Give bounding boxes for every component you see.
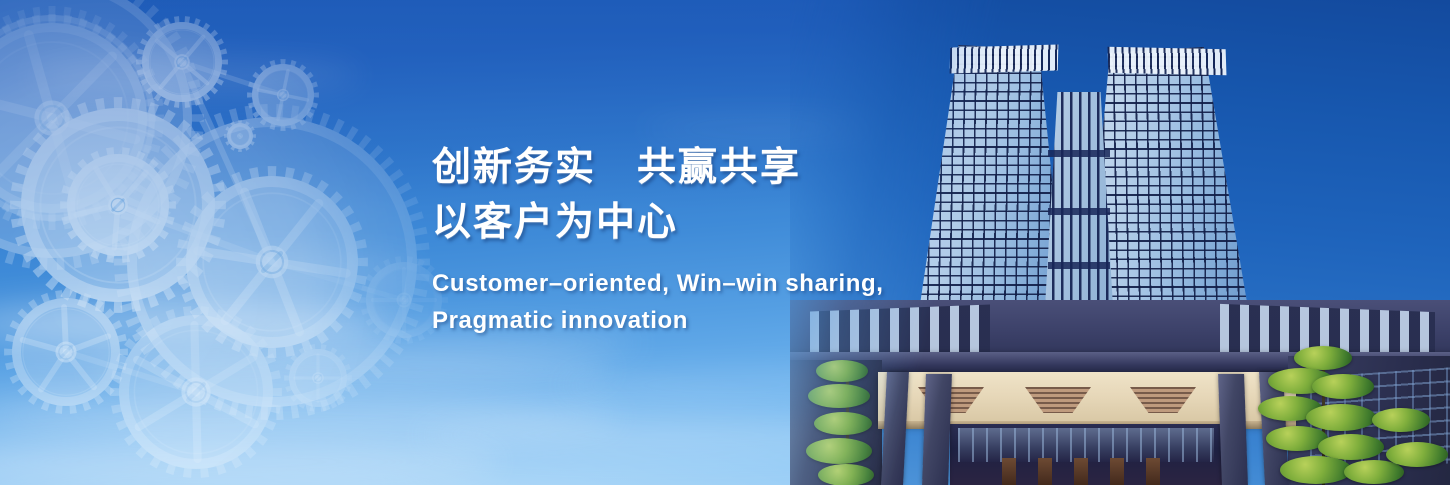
headline-cn-line1: 创新务实 共赢共享 [432,140,952,195]
core-band [1048,262,1110,269]
core-band [1048,208,1110,215]
hero-banner: 创新务实 共赢共享 以客户为中心 Customer–oriented, Win–… [0,0,1450,485]
entrance-column [1218,374,1248,485]
lobby-door [1110,458,1124,485]
tower-crown-right [1108,47,1227,75]
lobby-door [1002,458,1016,485]
subheadline-en: Customer–oriented, Win–win sharing, Prag… [432,265,952,339]
subheadline-en-line1: Customer–oriented, Win–win sharing, [432,265,952,302]
banner-copy: 创新务实 共赢共享 以客户为中心 Customer–oriented, Win–… [432,140,952,339]
headline-cn-line2: 以客户为中心 [432,195,952,250]
entrance-column [922,374,952,485]
subheadline-en-line2: Pragmatic innovation [432,302,952,339]
lobby-door [1074,458,1088,485]
lobby-door [1146,458,1160,485]
cloud-wisp [120,258,420,280]
lobby-door [1038,458,1052,485]
lobby-glazing [958,428,1214,462]
cloud-wisp [30,60,360,90]
cloud-wisp [90,352,610,386]
core-band [1048,150,1110,157]
tower-crown-left [950,44,1059,73]
